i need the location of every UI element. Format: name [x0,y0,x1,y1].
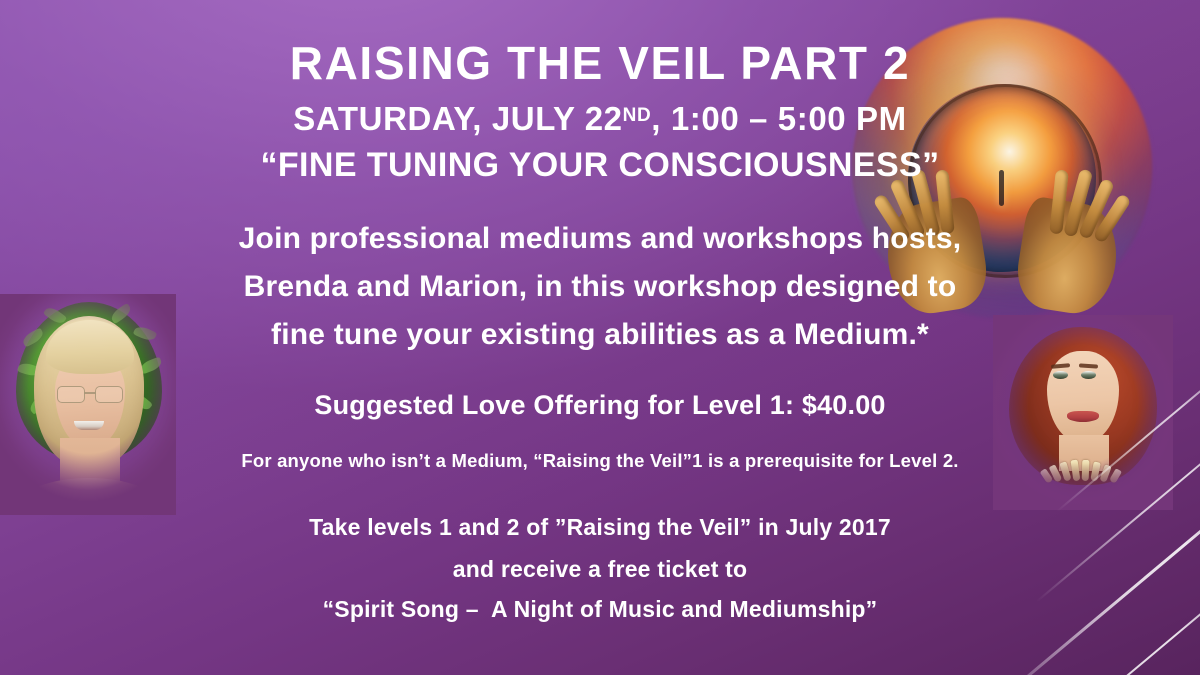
flyer-title: RAISING THE VEIL PART 2 [0,40,1200,86]
promo-line-3: “Spirit Song – A Night of Music and Medi… [0,598,1200,621]
prerequisite-note: For anyone who isn’t a Medium, “Raising … [0,452,1200,471]
text-layer: RAISING THE VEIL PART 2 SATURDAY, JULY 2… [0,0,1200,675]
flyer-date-time: SATURDAY, JULY 22ND, 1:00 – 5:00 PM [0,102,1200,135]
date-prefix: SATURDAY, JULY 22 [293,100,622,137]
body-line-1: Join professional mediums and workshops … [0,224,1200,254]
body-line-2: Brenda and Marion, in this workshop desi… [0,272,1200,302]
body-line-3: fine tune your existing abilities as a M… [0,320,1200,350]
flyer-theme: “FINE TUNING YOUR CONSCIOUSNESS” [0,148,1200,182]
suggested-love-offering: Suggested Love Offering for Level 1: $40… [0,392,1200,419]
date-ordinal-suffix: ND [623,105,652,126]
promo-line-1: Take levels 1 and 2 of ”Raising the Veil… [0,516,1200,539]
promotional-flyer: RAISING THE VEIL PART 2 SATURDAY, JULY 2… [0,0,1200,675]
time-range: , 1:00 – 5:00 PM [651,100,906,137]
promo-line-2: and receive a free ticket to [0,558,1200,581]
